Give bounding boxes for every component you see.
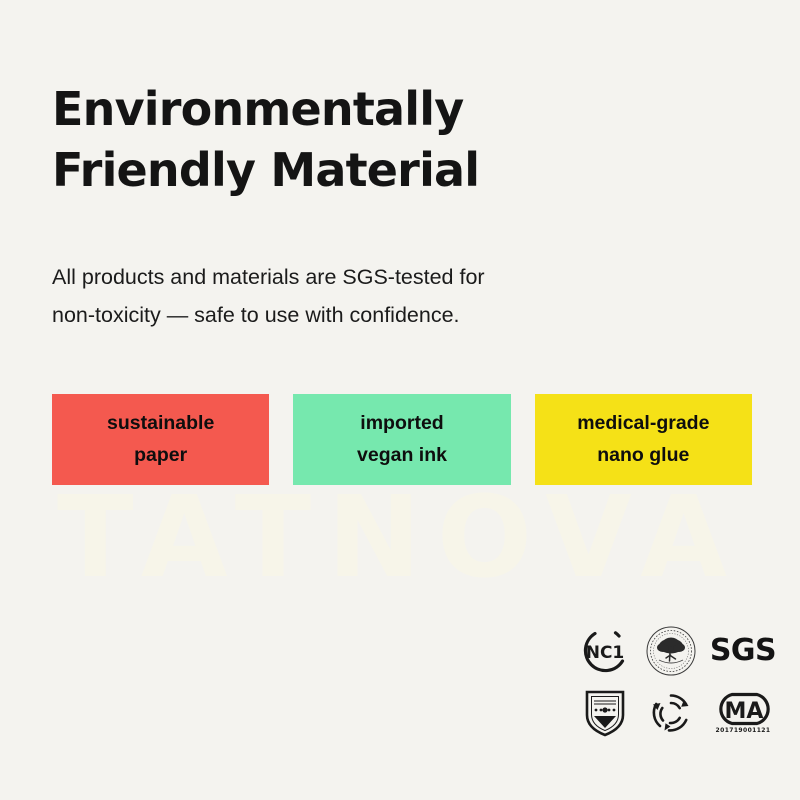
page-title-line-1: Environmentally bbox=[52, 82, 463, 136]
certification-badge-sgs: SGS bbox=[710, 636, 776, 666]
description-line-2: non-toxicity — safe to use with confiden… bbox=[52, 296, 652, 334]
recycling-arrows-icon bbox=[648, 690, 694, 736]
certification-badge-shield bbox=[583, 688, 627, 738]
chip-label-line-2: vegan ink bbox=[357, 440, 447, 472]
poster-canvas: TATNOVA Environmentally Friendly Materia… bbox=[0, 0, 800, 800]
certification-badge-nc1: NC1 bbox=[581, 627, 629, 675]
shield-chevron-icon bbox=[583, 688, 627, 738]
sgs-wordmark-icon: SGS bbox=[710, 636, 776, 666]
chip-label-line-2: paper bbox=[134, 440, 187, 472]
description-text: All products and materials are SGS-teste… bbox=[52, 258, 652, 335]
material-chip-sustainable-paper: sustainable paper bbox=[52, 394, 269, 485]
description-line-1: All products and materials are SGS-teste… bbox=[52, 265, 485, 289]
page-title-line-2: Friendly Material bbox=[52, 140, 692, 201]
brand-watermark: TATNOVA bbox=[0, 482, 800, 594]
svg-text:MA: MA bbox=[725, 699, 764, 724]
certification-badge-group: NC1 SGS bbox=[572, 620, 782, 744]
page-title: Environmentally Friendly Material bbox=[52, 79, 692, 201]
svg-text:NC1: NC1 bbox=[586, 643, 625, 663]
certification-badge-recycling bbox=[648, 690, 694, 736]
chip-label-line-2: nano glue bbox=[597, 440, 689, 472]
tree-seal-icon bbox=[645, 625, 697, 677]
nc1-circle-icon: NC1 bbox=[581, 627, 629, 675]
chip-label-line-1: imported bbox=[360, 408, 443, 440]
material-chip-medical-grade-nano-glue: medical-grade nano glue bbox=[535, 394, 752, 485]
certification-badge-tree-seal bbox=[645, 625, 697, 677]
certification-badge-cma: MA 201719001121 bbox=[710, 692, 776, 734]
cma-certificate-number: 201719001121 bbox=[716, 727, 771, 734]
chip-label-line-1: medical-grade bbox=[577, 408, 709, 440]
material-chip-group: sustainable paper imported vegan ink med… bbox=[52, 394, 752, 485]
cma-mark-icon: MA bbox=[710, 692, 776, 726]
material-chip-imported-vegan-ink: imported vegan ink bbox=[293, 394, 510, 485]
chip-label-line-1: sustainable bbox=[107, 408, 214, 440]
